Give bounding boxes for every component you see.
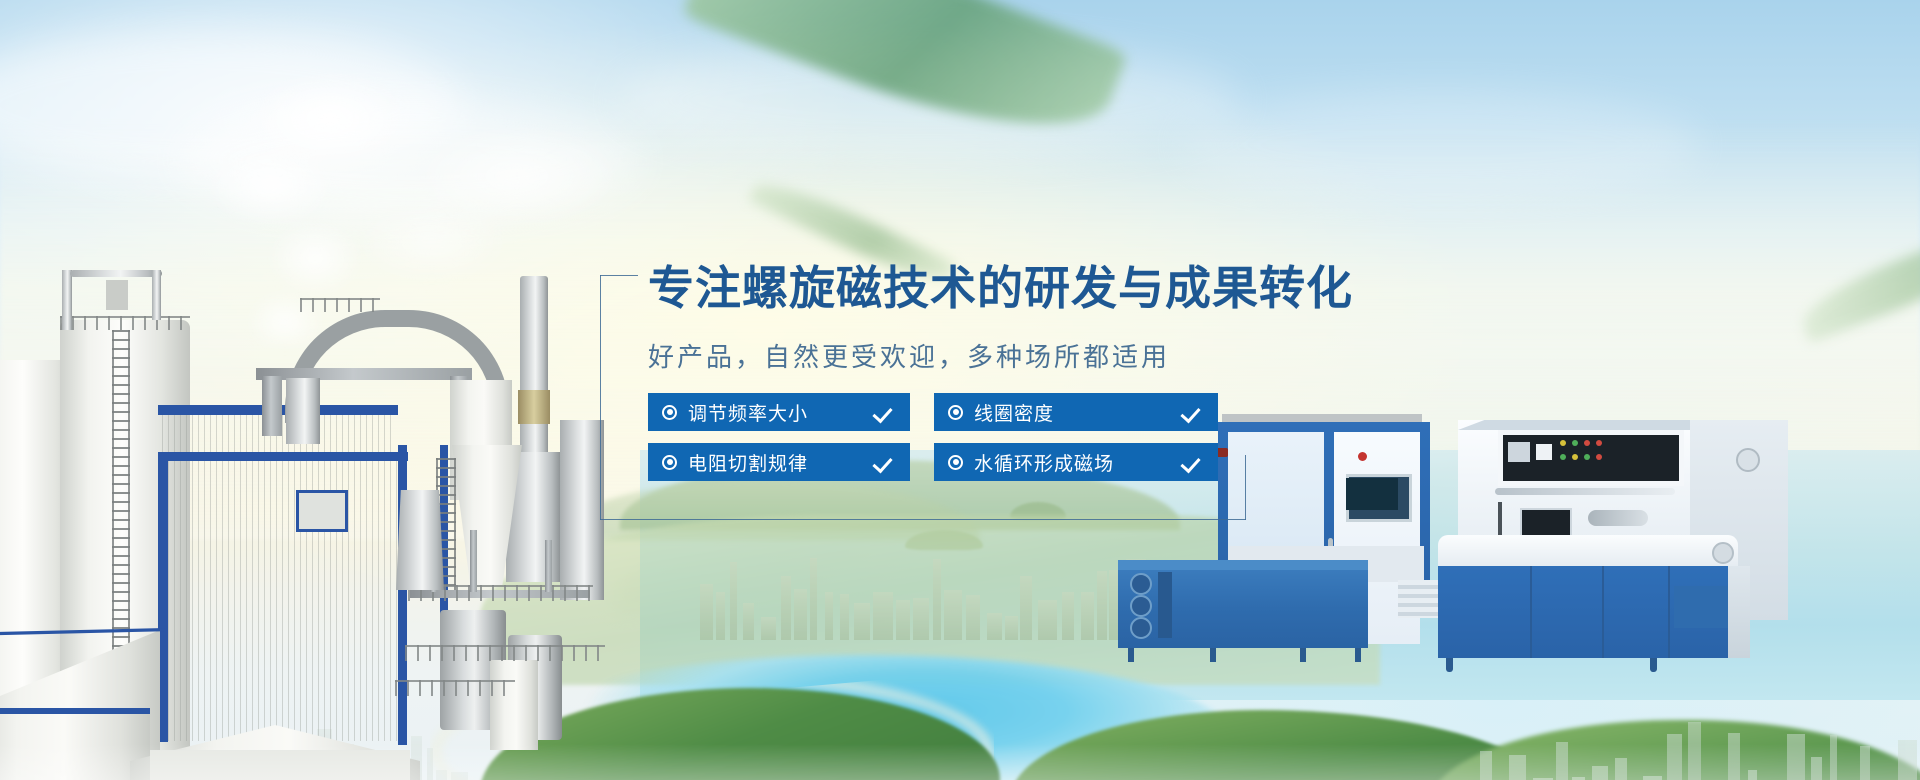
radio-filled-icon [662,405,677,420]
panel-button [1536,444,1552,460]
bracket-top-segment [600,275,638,276]
machine-vent [1674,586,1730,628]
panel-seam [1602,566,1604,658]
machine-top-cover [1438,535,1738,569]
plant-box [490,660,538,750]
duct [396,490,444,590]
check-icon [874,451,896,473]
radio-filled-icon [662,455,677,470]
page-subtitle: 好产品，自然更受欢迎，多种场所都适用 [648,337,1170,374]
page-title: 专注螺旋磁技术的研发与成果转化 [648,263,1353,314]
feature-tag-frequency[interactable]: 调节频率大小 [648,393,910,431]
check-icon [1182,401,1204,423]
check-icon [874,401,896,423]
oven-handle-bar [1495,488,1675,495]
panel-led [1560,440,1566,446]
feature-tag-list: 调节频率大小 线圈密度 电阻切割规律 水循环形成磁场 [648,393,1248,493]
pipe [70,270,162,277]
machine-knob-icon [1712,542,1734,564]
bracket-bottom-line [600,519,1246,520]
building-trim [158,452,408,461]
feature-tag-label: 线圈密度 [974,399,1054,426]
shed-wall [0,710,150,780]
chiller-fan-icon [1130,617,1152,639]
feature-tag-label: 水循环形成磁场 [974,449,1114,476]
chiller-foot [1210,648,1216,662]
oven-door-handle [1588,510,1648,526]
feature-tag-water-cycle[interactable]: 水循环形成磁场 [934,443,1218,481]
feature-tag-label: 电阻切割规律 [688,449,808,476]
hero-banner: 专注螺旋磁技术的研发与成果转化 好产品，自然更受欢迎，多种场所都适用 调节频率大… [0,0,1920,780]
shed-wall [150,750,410,780]
chiller-foot [1128,648,1134,662]
panel-screen [1508,442,1530,462]
building-wall [168,461,400,741]
chiller-foot [1355,648,1361,662]
tower [560,420,604,600]
pipe [545,540,552,592]
chiller-foot [1300,648,1306,662]
duct [286,378,320,444]
chiller-unit [1118,560,1368,648]
chimney-band [518,390,550,424]
panel-led [1584,454,1590,460]
panel-led [1584,440,1590,446]
roof-trim [0,708,150,714]
feature-tag-label: 调节频率大小 [688,399,808,426]
radio-filled-icon [948,405,963,420]
caster [1650,658,1657,672]
chimney [520,276,548,456]
feature-tag-resistance[interactable]: 电阻切割规律 [648,443,910,481]
indicator-lamp [1358,452,1367,461]
railing [395,680,515,696]
caster [1446,658,1453,672]
panel-led [1572,440,1578,446]
chiller-fan-icon [1130,595,1152,617]
panel-seam [1530,566,1532,658]
hmi-screen [1346,478,1398,510]
conveyor-railing [300,298,380,312]
silo-railing [60,316,190,330]
radio-filled-icon [948,455,963,470]
feature-tag-coil-density[interactable]: 线圈密度 [934,393,1218,431]
building-window [296,490,348,532]
silo-box [106,280,128,310]
factory-illustration [0,190,640,780]
panel-led [1572,454,1578,460]
pipe [152,270,161,320]
panel-seam [1668,566,1670,658]
bracket-left-line [600,275,601,520]
chiller-grill [1158,572,1172,638]
hero-text-block: 专注螺旋磁技术的研发与成果转化 好产品，自然更受欢迎，多种场所都适用 调节频率大… [600,275,1300,535]
railing [405,645,605,661]
oven-fan-icon [1736,448,1760,472]
cloud [1180,90,1700,200]
pipe [62,270,72,330]
panel-led [1596,440,1602,446]
city-skyline-right [1480,710,1920,780]
feature-tag-row: 电阻切割规律 水循环形成磁场 [648,443,1248,481]
pipe [470,530,477,592]
feature-tag-row: 调节频率大小 线圈密度 [648,393,1248,431]
chiller-fan-icon [1130,573,1152,595]
support [262,376,282,436]
panel-led [1596,454,1602,460]
panel-led [1560,454,1566,460]
check-icon [1182,451,1204,473]
chiller-top [1118,560,1368,570]
machine-side [1728,566,1750,658]
